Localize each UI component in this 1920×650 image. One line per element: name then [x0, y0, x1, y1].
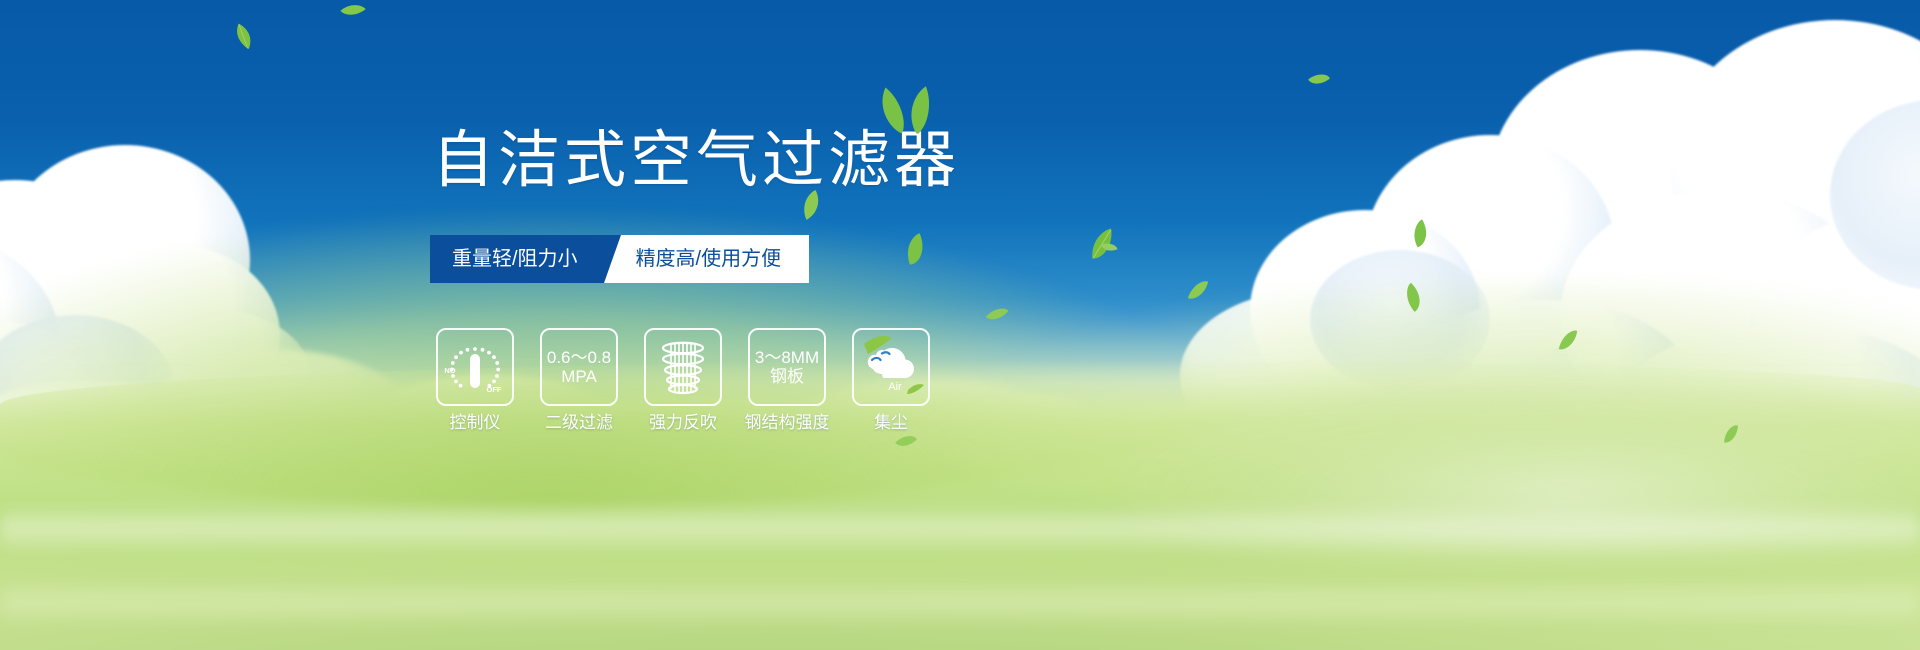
feature-item-control-instrument[interactable]: NO OFF 控制仪: [436, 328, 514, 431]
feature-item-steel-structure-strength[interactable]: 3～8MM 钢板 钢结构强度: [748, 328, 826, 431]
headline-block: 自洁式空气过滤器: [432, 130, 960, 192]
feature-icon-box: 0.6～0.8 MPA: [540, 328, 618, 406]
feature-item-strong-backblow[interactable]: 强力反吹: [644, 328, 722, 431]
icon-text-line-2: 钢板: [755, 367, 819, 386]
steel-plate-text-icon: 3～8MM 钢板: [755, 348, 819, 386]
tag-weight-resistance[interactable]: 重量轻/阻力小: [430, 235, 604, 283]
tag-label: 精度高/使用方便: [636, 249, 782, 269]
feature-icon-box: 3～8MM 钢板: [748, 328, 826, 406]
air-label: Air: [888, 381, 902, 393]
tag-precision-convenience[interactable]: 精度高/使用方便: [602, 235, 810, 283]
feature-icon-box: Air: [852, 328, 930, 406]
gauge-label-no: NO: [444, 366, 455, 375]
feature-label: 二级过滤: [545, 414, 613, 431]
feature-label: 强力反吹: [649, 414, 717, 431]
feature-icon-box: NO OFF: [436, 328, 514, 406]
feature-label: 控制仪: [450, 414, 501, 431]
hero-banner: 自洁式空气过滤器 重量轻/阻力小 精度高/使用方便: [0, 0, 1920, 650]
feature-row: NO OFF 控制仪 0.6～0.8 MPA 二级过滤: [436, 328, 930, 431]
feature-item-two-stage-filtration[interactable]: 0.6～0.8 MPA 二级过滤: [540, 328, 618, 431]
air-cloud-icon: Air: [858, 332, 924, 398]
feature-item-dust-collection[interactable]: Air 集尘: [852, 328, 930, 431]
banner-content: 自洁式空气过滤器 重量轻/阻力小 精度高/使用方便: [0, 0, 1920, 650]
icon-text-line-2: MPA: [547, 367, 611, 386]
gauge-label-off: OFF: [487, 385, 502, 394]
control-gauge-icon: NO OFF: [444, 338, 506, 396]
icon-text-line-1: 0.6～0.8: [547, 348, 611, 367]
feature-label: 集尘: [874, 414, 908, 431]
tag-row: 重量轻/阻力小 精度高/使用方便: [430, 235, 809, 283]
feature-label: 钢结构强度: [745, 414, 830, 431]
headline-leaf-pair-icon: [876, 84, 936, 136]
icon-text-line-1: 3～8MM: [755, 348, 819, 367]
feature-icon-box: [644, 328, 722, 406]
filter-cartridge-icon: [654, 339, 712, 395]
tag-label: 重量轻/阻力小: [452, 249, 578, 269]
pressure-text-icon: 0.6～0.8 MPA: [547, 348, 611, 386]
page-title: 自洁式空气过滤器: [432, 130, 960, 192]
